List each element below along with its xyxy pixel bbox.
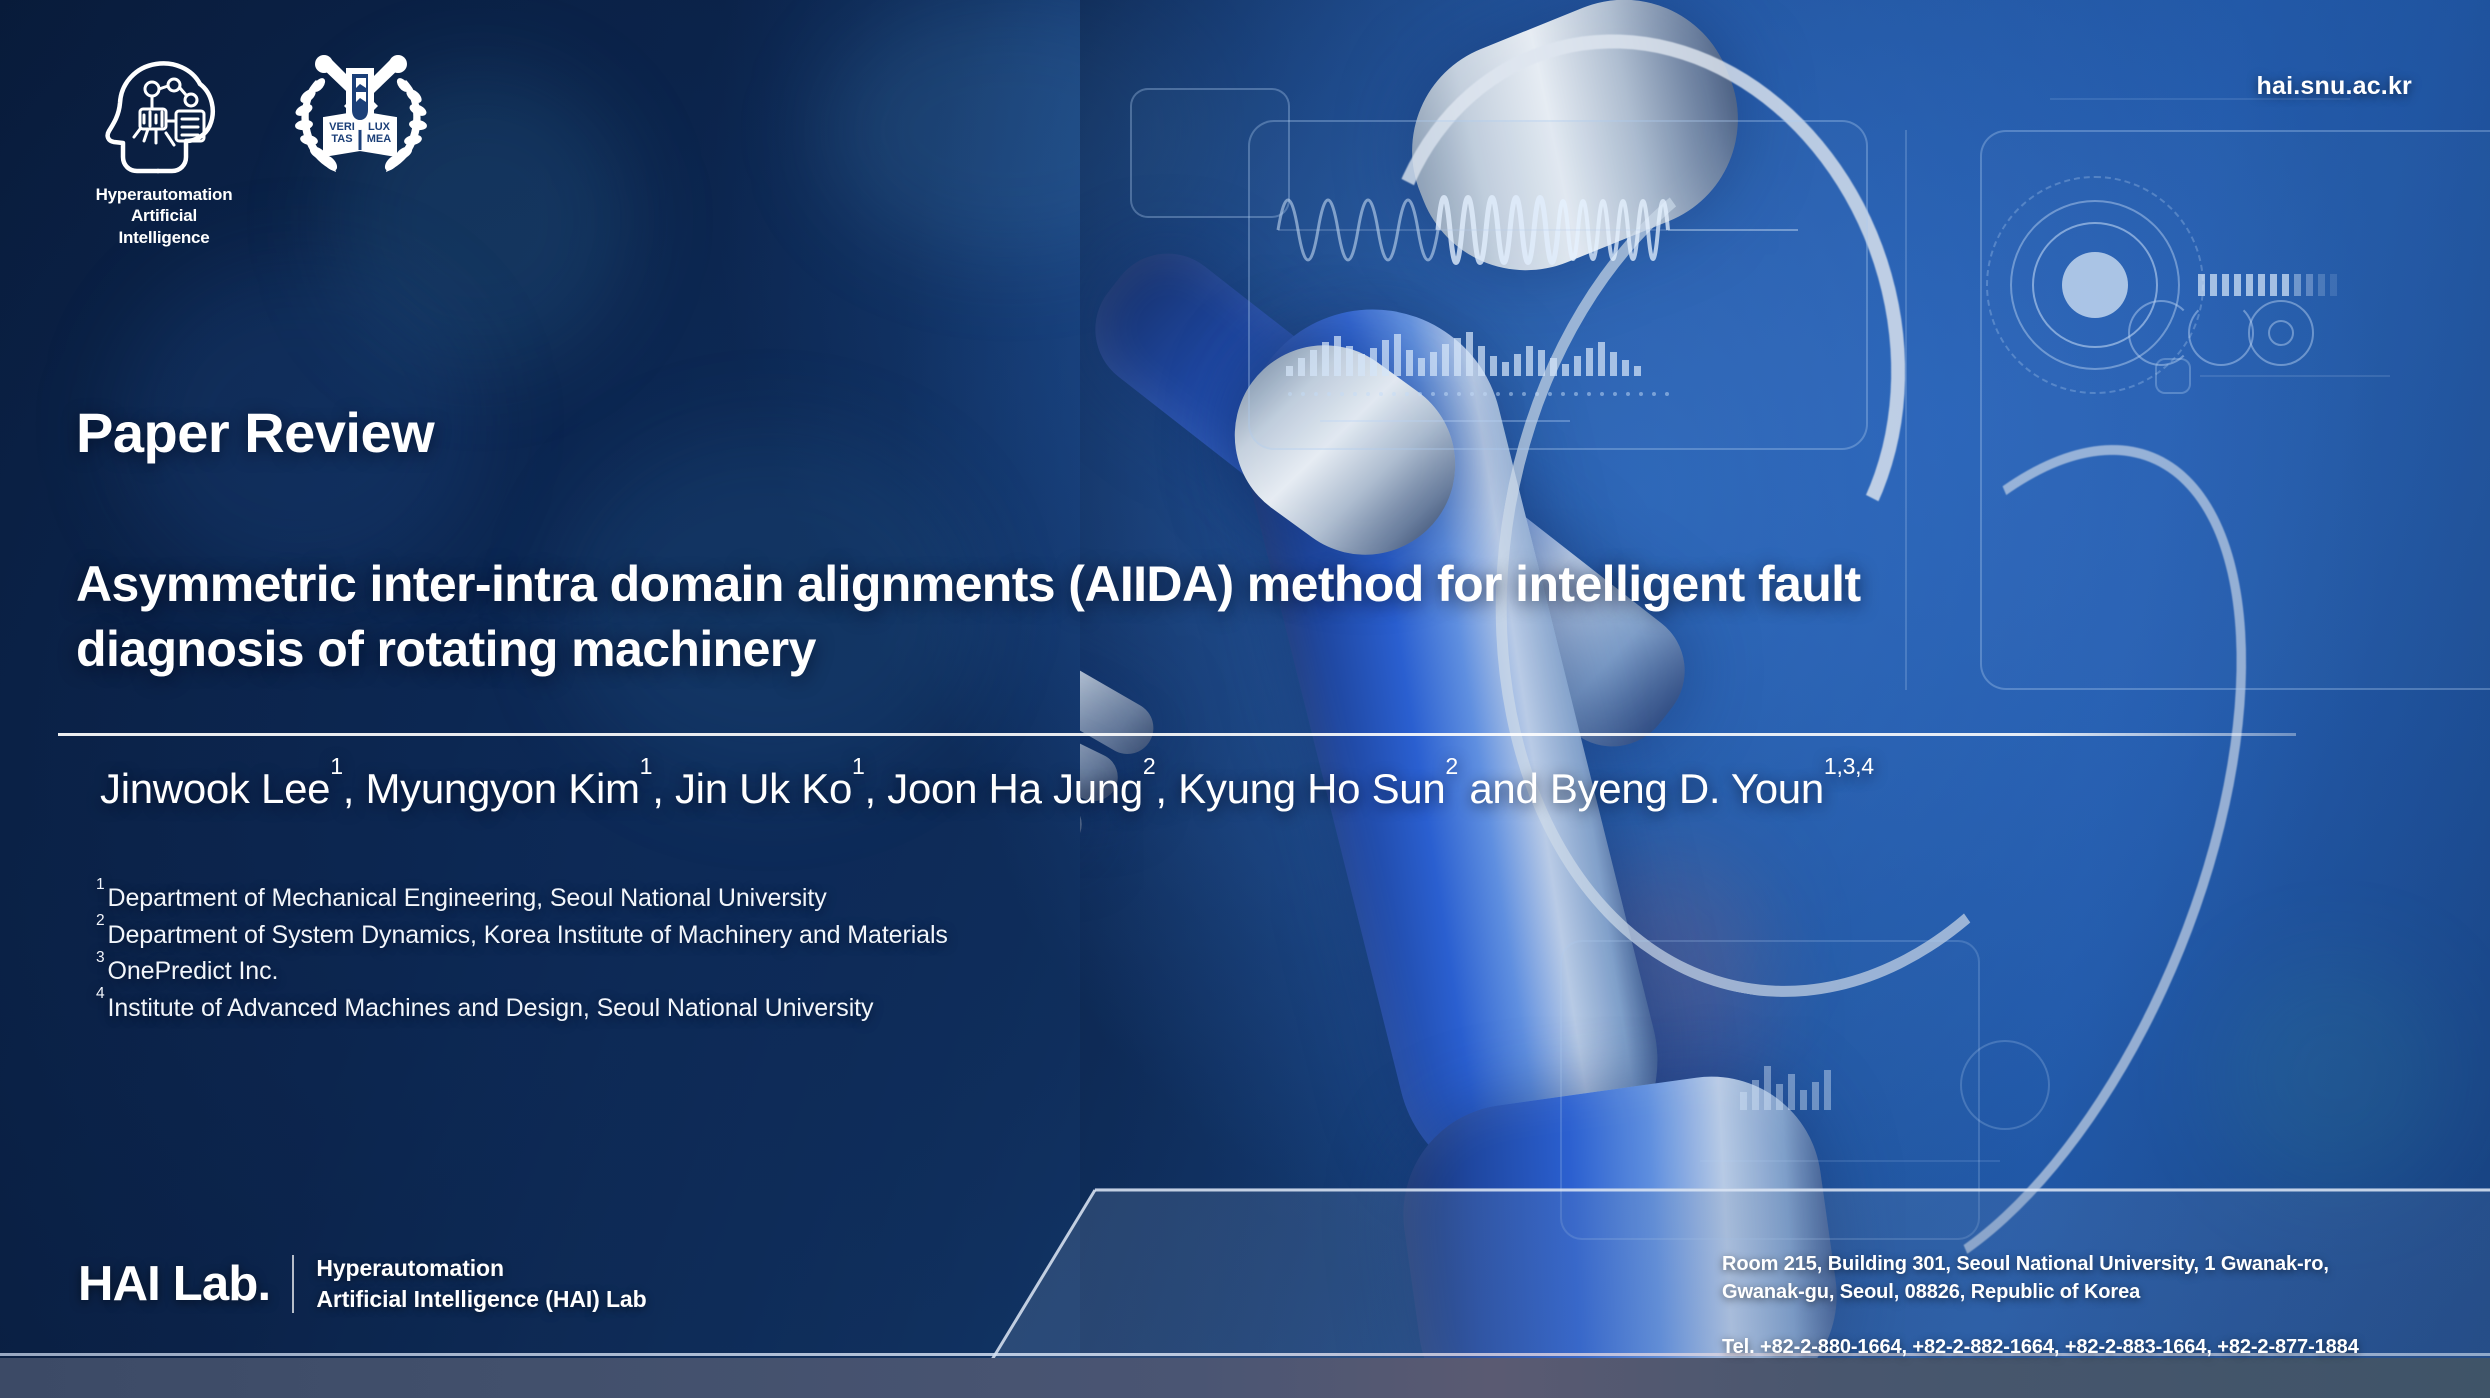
title-divider <box>58 733 2296 736</box>
telephone-line: Tel. +82-2-880-1664, +82-2-882-1664, +82… <box>1722 1333 2359 1361</box>
lab-divider <box>292 1255 294 1313</box>
footer-bottom-band <box>0 1358 2490 1398</box>
author-affiliation-marker: 1 <box>330 753 343 779</box>
author-name: Myungyon Kim <box>365 765 639 812</box>
author-name: Jin Uk Ko <box>675 765 852 812</box>
affiliation-text: OnePredict Inc. <box>108 957 279 985</box>
author-affiliation-marker: 1 <box>852 753 865 779</box>
author-separator: , <box>865 765 888 812</box>
snu-laurel-book-emblem-icon: VERI TAS LUX MEA <box>286 52 436 184</box>
author-separator: , <box>1155 765 1178 812</box>
lab-subtitle-line2: Artificial Intelligence (HAI) Lab <box>316 1284 646 1315</box>
seoul-national-university-emblem: VERI TAS LUX MEA <box>286 52 436 184</box>
lab-lockup: HAI Lab. Hyperautomation Artificial Inte… <box>78 1253 647 1315</box>
affiliation-item: 1Department of Mechanical Engineering, S… <box>96 880 948 917</box>
head-brain-circuit-icon <box>84 52 244 180</box>
logo-caption-line2: Artificial Intelligence <box>84 205 244 248</box>
address-line-2: Gwanak-gu, Seoul, 08826, Republic of Kor… <box>1722 1278 2359 1306</box>
affiliation-marker: 1 <box>96 876 105 893</box>
affiliation-marker: 4 <box>96 985 105 1002</box>
author-separator: , <box>652 765 675 812</box>
affiliation-text: Institute of Advanced Machines and Desig… <box>108 994 874 1022</box>
snu-motto-lux: LUX <box>368 121 391 133</box>
affiliation-text: Department of Mechanical Engineering, Se… <box>108 884 827 912</box>
logo-caption: Hyperautomation Artificial Intelligence <box>84 184 244 248</box>
lab-subtitle-line1: Hyperautomation <box>316 1253 646 1284</box>
contact-info: Room 215, Building 301, Seoul National U… <box>1722 1250 2359 1361</box>
snu-motto-veri: VERI <box>329 121 355 133</box>
affiliation-text: Department of System Dynamics, Korea Ins… <box>108 921 948 949</box>
affiliation-marker: 3 <box>96 949 105 966</box>
page-title: Asymmetric inter-intra domain alignments… <box>76 552 2006 682</box>
page-kicker: Paper Review <box>76 400 434 465</box>
snu-motto-mea: MEA <box>367 133 392 145</box>
address-line-1: Room 215, Building 301, Seoul National U… <box>1722 1250 2359 1278</box>
site-url[interactable]: hai.snu.ac.kr <box>2257 72 2412 101</box>
affiliation-marker: 2 <box>96 912 105 929</box>
author-affiliation-marker: 2 <box>1445 753 1458 779</box>
author-list: Jinwook Lee1, Myungyon Kim1, Jin Uk Ko1,… <box>100 765 2300 813</box>
lab-subtitle: Hyperautomation Artificial Intelligence … <box>316 1253 646 1315</box>
author-separator: , <box>343 765 366 812</box>
author-affiliation-marker: 1,3,4 <box>1824 753 1874 779</box>
author-affiliation-marker: 1 <box>640 753 653 779</box>
affiliation-item: 3OnePredict Inc. <box>96 953 948 990</box>
logo-caption-line1: Hyperautomation <box>84 184 244 205</box>
author-name: Joon Ha Jung <box>887 765 1143 812</box>
logo-group: Hyperautomation Artificial Intelligence <box>84 52 436 248</box>
author-affiliation-marker: 2 <box>1143 753 1156 779</box>
title-slide: Hyperautomation Artificial Intelligence <box>0 0 2490 1398</box>
snu-motto-tas: TAS <box>331 133 352 145</box>
author-name: Kyung Ho Sun <box>1178 765 1445 812</box>
author-name: Byeng D. Youn <box>1550 765 1824 812</box>
affiliation-item: 2Department of System Dynamics, Korea In… <box>96 917 948 954</box>
author-name: Jinwook Lee <box>100 765 330 812</box>
affiliation-list: 1Department of Mechanical Engineering, S… <box>96 880 948 1026</box>
lab-name: HAI Lab. <box>78 1256 270 1312</box>
author-separator: and <box>1458 765 1550 812</box>
hyperautomation-artificial-intelligence-logo: Hyperautomation Artificial Intelligence <box>84 52 244 248</box>
affiliation-item: 4Institute of Advanced Machines and Desi… <box>96 990 948 1027</box>
